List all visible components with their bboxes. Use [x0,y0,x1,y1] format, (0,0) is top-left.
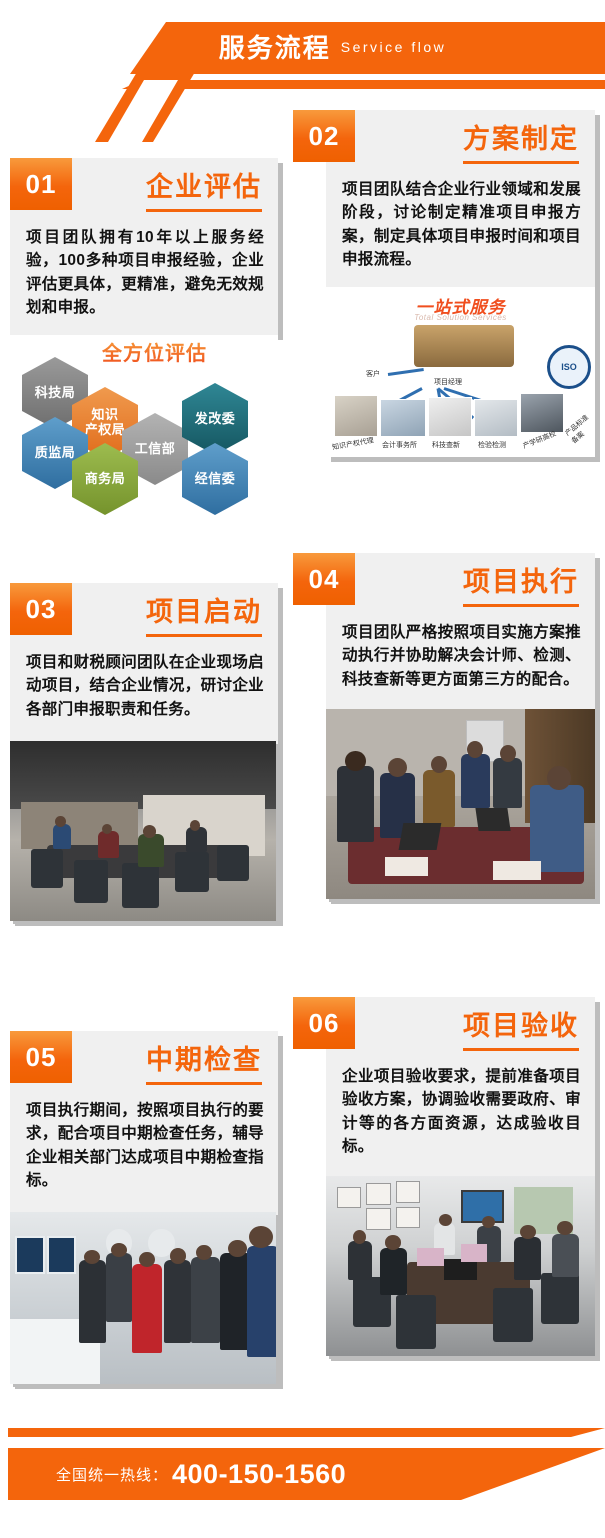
page-footer: 全国统一热线： 400-150-1560 [0,1420,605,1538]
hex-chart-title: 全方位评估 [102,337,207,366]
step-number-badge-06: 06 [293,997,355,1049]
step-body-02: 项目团队结合企业行业领域和发展阶段，讨论制定精准项目申报方案，制定具体项目申报时… [326,164,595,287]
step-title-wrap-04: 项目执行 [326,553,595,607]
step-title-04: 项目执行 [463,567,579,607]
page-subtitle: Service flow [341,40,446,56]
one-stop-hero-photo [414,325,514,367]
hotline-label: 全国统一热线： [56,1464,168,1485]
step-card-05: 05 中期检查 项目执行期间，按照项目执行的要求，配合项目中期检查任务，辅导企业… [10,1031,278,1388]
step-card-05-body: 05 中期检查 项目执行期间，按照项目执行的要求，配合项目中期检查任务，辅导企业… [10,1031,278,1384]
one-stop-client-label: 客户 [366,369,380,379]
step-body-04: 项目团队严格按照项目实施方案推动执行并协助解决会计师、检测、科技查新等更方面第三… [326,607,595,707]
photo-room-scene [326,1176,595,1356]
one-stop-tile-4 [520,393,564,433]
step-card-03-body: 03 项目启动 项目和财税顾问团队在企业现场启动项目，结合企业情况，研讨企业各部… [10,583,278,921]
one-stop-tile-0 [334,395,378,437]
step-title-01: 企业评估 [146,172,262,212]
iso-seal-icon: ISO [547,345,591,389]
photo-room-scene [326,709,595,899]
one-stop-service-diagram: 一站式服务 Total Solution Services 客户 项目经理 知识… [326,287,595,457]
footer-hotline-group: 全国统一热线： 400-150-1560 [56,1448,346,1500]
step-body-05: 项目执行期间，按照项目执行的要求，配合项目中期检查任务，辅导企业相关部门达成项目… [10,1085,278,1208]
step-card-02: 02 方案制定 项目团队结合企业行业领域和发展阶段，讨论制定精准项目申报方案，制… [293,110,595,457]
one-stop-arrow-1 [388,368,424,376]
step-card-02-body: 方案制定 项目团队结合企业行业领域和发展阶段，讨论制定精准项目申报方案，制定具体… [326,110,595,457]
header-title-group: 服务流程 Service flow [0,22,605,74]
step-card-06-body: 项目验收 企业项目验收要求，提前准备项目验收方案，协调验收需要政府、审计等的各方… [326,997,595,1356]
step-title-03: 项目启动 [146,597,262,637]
step-card-01: 01 企业评估 项目团队拥有10年以上服务经验，100多种项目申报经验，企业评估… [10,158,278,493]
photo-room-scene [10,741,276,921]
step-card-01-body: 01 企业评估 项目团队拥有10年以上服务经验，100多种项目申报经验，企业评估… [10,158,278,335]
step-card-06: 06 项目验收 企业项目验收要求，提前准备项目验收方案，协调验收需要政府、审计等… [293,997,595,1360]
photo-team-working-meeting [326,709,595,899]
one-stop-tile-2 [428,397,472,437]
one-stop-service-2: 科技查新 [432,440,460,450]
step-number-badge-03: 03 [10,583,72,635]
one-stop-subtitle: Total Solution Services [326,313,595,322]
one-stop-service-5: 产品标准备案 [563,412,595,446]
hex-node-6: 经信委 [182,443,248,515]
page-header: 服务流程 Service flow [0,0,605,104]
step-title-wrap-02: 方案制定 [326,110,595,164]
photo-room-scene [10,1212,276,1384]
one-stop-tile-3 [474,399,518,437]
step-card-04-body: 项目执行 项目团队严格按照项目实施方案推动执行并协助解决会计师、检测、科技查新等… [326,553,595,899]
page-title: 服务流程 [219,35,331,61]
photo-acceptance-meeting [326,1176,595,1356]
hotline-number[interactable]: 400-150-1560 [172,1459,346,1490]
step-title-06: 项目验收 [463,1011,579,1051]
one-stop-service-3: 检验检测 [478,440,506,450]
photo-onsite-inspection [10,1212,276,1384]
step-body-06: 企业项目验收要求，提前准备项目验收方案，协调验收需要政府、审计等的各方面资源，达… [326,1051,595,1174]
step-number-badge-01: 01 [10,158,72,210]
step-card-04: 04 项目执行 项目团队严格按照项目实施方案推动执行并协助解决会计师、检测、科技… [293,553,595,903]
step-title-wrap-06: 项目验收 [326,997,595,1051]
step-card-03: 03 项目启动 项目和财税顾问团队在企业现场启动项目，结合企业情况，研讨企业各部… [10,583,278,925]
step-number-badge-02: 02 [293,110,355,162]
header-thin-stripe [122,80,605,89]
step-number-badge-04: 04 [293,553,355,605]
step-body-03: 项目和财税顾问团队在企业现场启动项目，结合企业情况，研讨企业各部门申报职责和任务… [10,637,278,737]
footer-thin-stripe [8,1428,605,1437]
one-stop-tile-1 [380,399,426,437]
step-number-badge-05: 05 [10,1031,72,1083]
photo-conference-room-kickoff [10,741,276,921]
one-stop-service-1: 会计事务所 [382,440,417,450]
step-title-05: 中期检查 [146,1045,262,1085]
hexagon-assessment-chart: 全方位评估 科技局 知识 产权局 质监局 工信部 商务局 发改委 经信委 [10,335,278,493]
step-body-01: 项目团队拥有10年以上服务经验，100多种项目申报经验，企业评估更具体，更精准，… [10,212,278,335]
one-stop-service-0: 知识产权代理 [331,435,374,452]
step-title-02: 方案制定 [463,124,579,164]
one-stop-center-label: 项目经理 [434,377,462,387]
